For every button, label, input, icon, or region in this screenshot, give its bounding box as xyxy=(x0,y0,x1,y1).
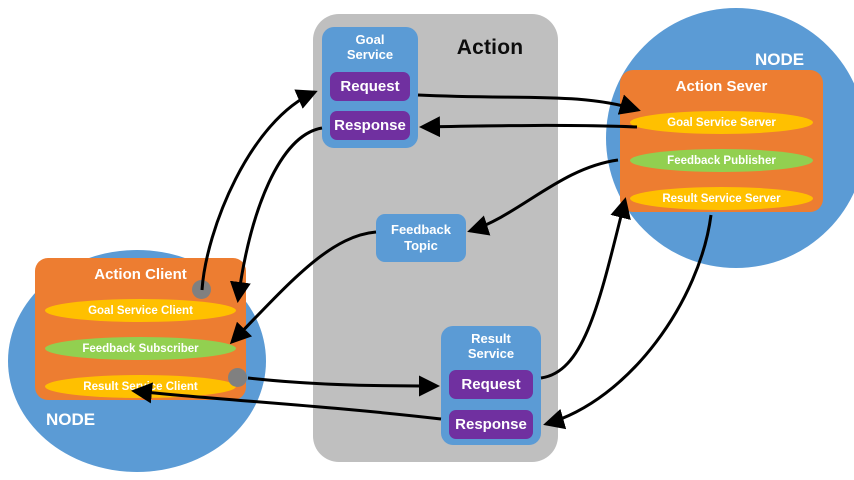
goal-service-request[interactable]: Request xyxy=(330,72,410,101)
feedback-topic-box[interactable]: Feedback Topic xyxy=(376,214,466,262)
diagram-canvas: Action NODE Action Sever Goal Service Se… xyxy=(0,0,854,480)
result-service-response[interactable]: Response xyxy=(449,410,533,439)
feedback-topic-line2: Topic xyxy=(404,238,438,253)
connector-dot-result-client xyxy=(228,368,247,387)
result-service-title-line2: Service xyxy=(468,346,514,361)
result-service-box: Result Service Request Response xyxy=(441,326,541,445)
goal-service-title-line1: Goal xyxy=(356,32,385,47)
action-client-title: Action Client xyxy=(35,266,246,283)
pill-goal-service-server[interactable]: Goal Service Server xyxy=(630,111,813,134)
result-service-request[interactable]: Request xyxy=(449,370,533,399)
pill-feedback-publisher[interactable]: Feedback Publisher xyxy=(630,149,813,172)
pill-result-service-client[interactable]: Result Service Client xyxy=(45,375,236,398)
pill-feedback-subscriber[interactable]: Feedback Subscriber xyxy=(45,337,236,360)
client-node-label: NODE xyxy=(46,410,95,430)
server-node-label: NODE xyxy=(755,50,804,70)
pill-goal-service-client[interactable]: Goal Service Client xyxy=(45,299,236,322)
arrow-goal-response-to-client xyxy=(238,128,322,300)
feedback-topic-label: Feedback Topic xyxy=(391,222,451,254)
goal-service-response[interactable]: Response xyxy=(330,111,410,140)
action-server-title: Action Sever xyxy=(620,78,823,95)
action-container-title: Action xyxy=(430,36,550,60)
result-service-title: Result Service xyxy=(441,331,541,361)
goal-service-box: Goal Service Request Response xyxy=(322,27,418,148)
action-server-box: Action Sever Goal Service Server Feedbac… xyxy=(620,70,823,212)
connector-dot-goal-client xyxy=(192,280,211,299)
result-service-title-line1: Result xyxy=(471,331,511,346)
action-client-box: Action Client Goal Service Client Feedba… xyxy=(35,258,246,400)
feedback-topic-line1: Feedback xyxy=(391,222,451,237)
goal-service-title-line2: Service xyxy=(347,47,393,62)
goal-service-title: Goal Service xyxy=(322,32,418,62)
pill-result-service-server[interactable]: Result Service Server xyxy=(630,187,813,210)
